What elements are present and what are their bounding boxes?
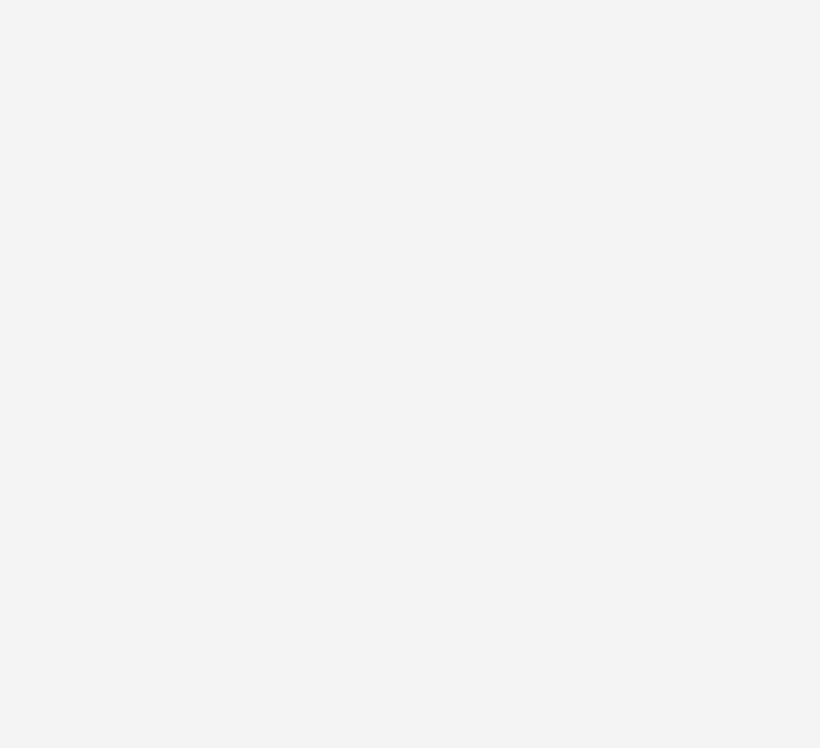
chart-figure <box>0 0 820 748</box>
plot-canvas <box>0 0 820 748</box>
